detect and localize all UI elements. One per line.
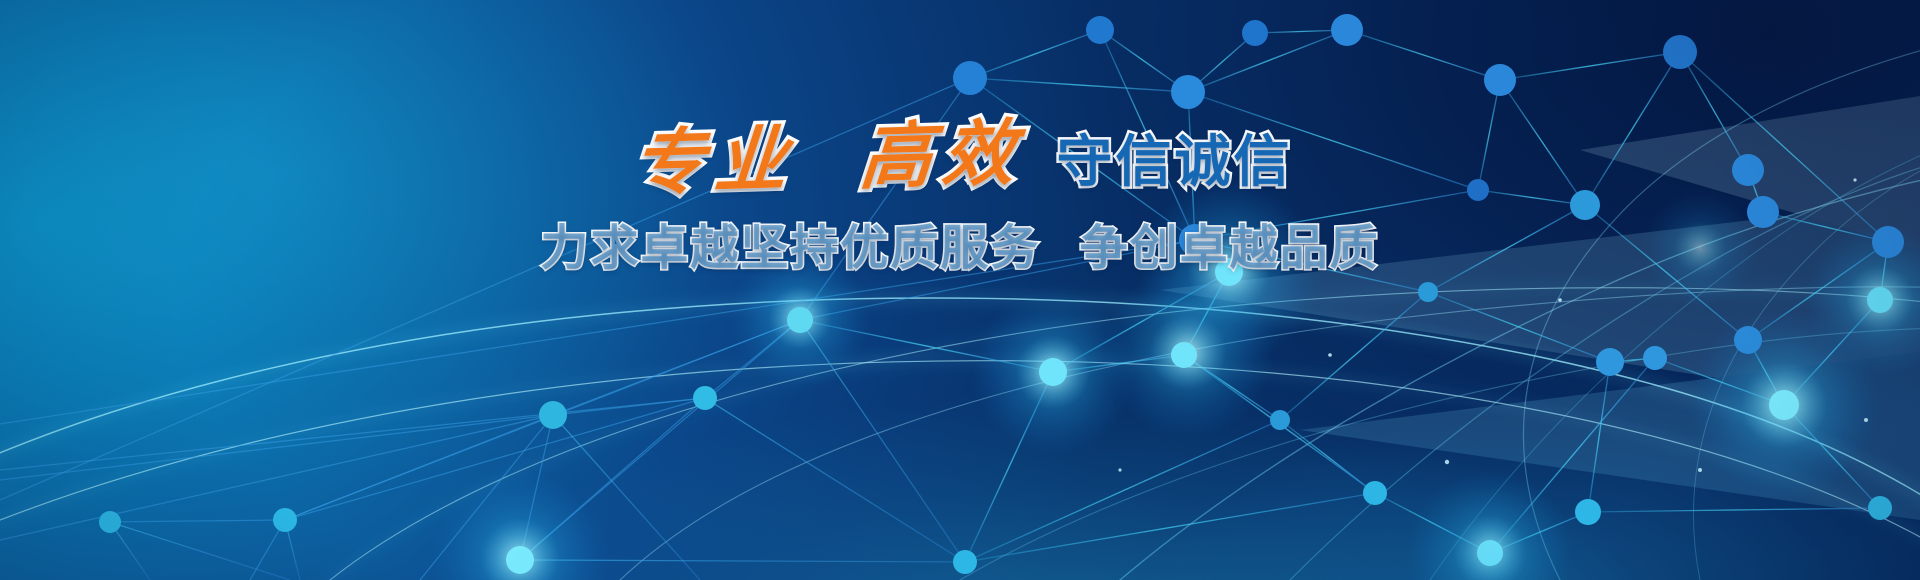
background-vignette [0,0,1920,580]
hero-banner: 专业 高效 守信诚信 力求卓越坚持优质服务 争创卓越品质 [0,0,1920,580]
